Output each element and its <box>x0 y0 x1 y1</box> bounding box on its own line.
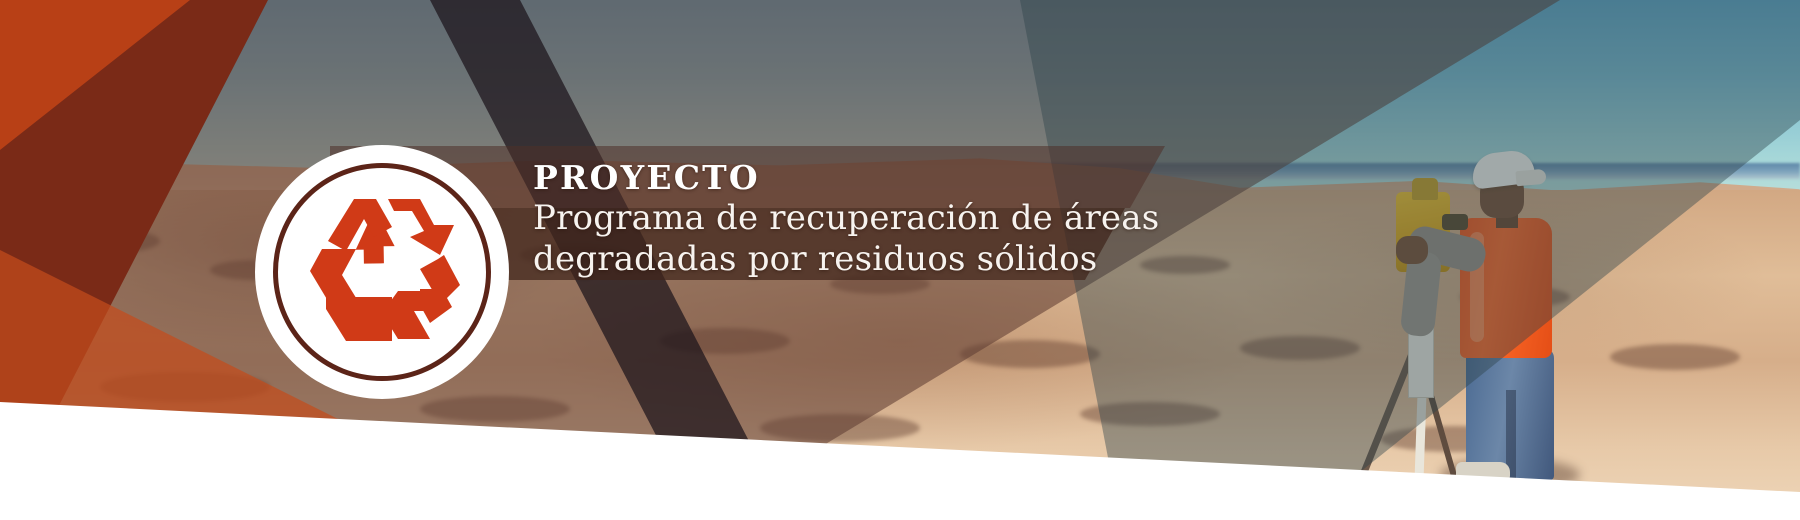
page-title: PROYECTO <box>533 158 1233 198</box>
project-subtitle: Programa de recuperación de áreas degrad… <box>533 198 1233 280</box>
project-hero-banner: PROYECTO Programa de recuperación de áre… <box>0 0 1800 520</box>
headline-copy-block: PROYECTO Programa de recuperación de áre… <box>533 158 1233 280</box>
recycling-icon <box>302 193 462 351</box>
project-logo-badge <box>255 145 509 399</box>
